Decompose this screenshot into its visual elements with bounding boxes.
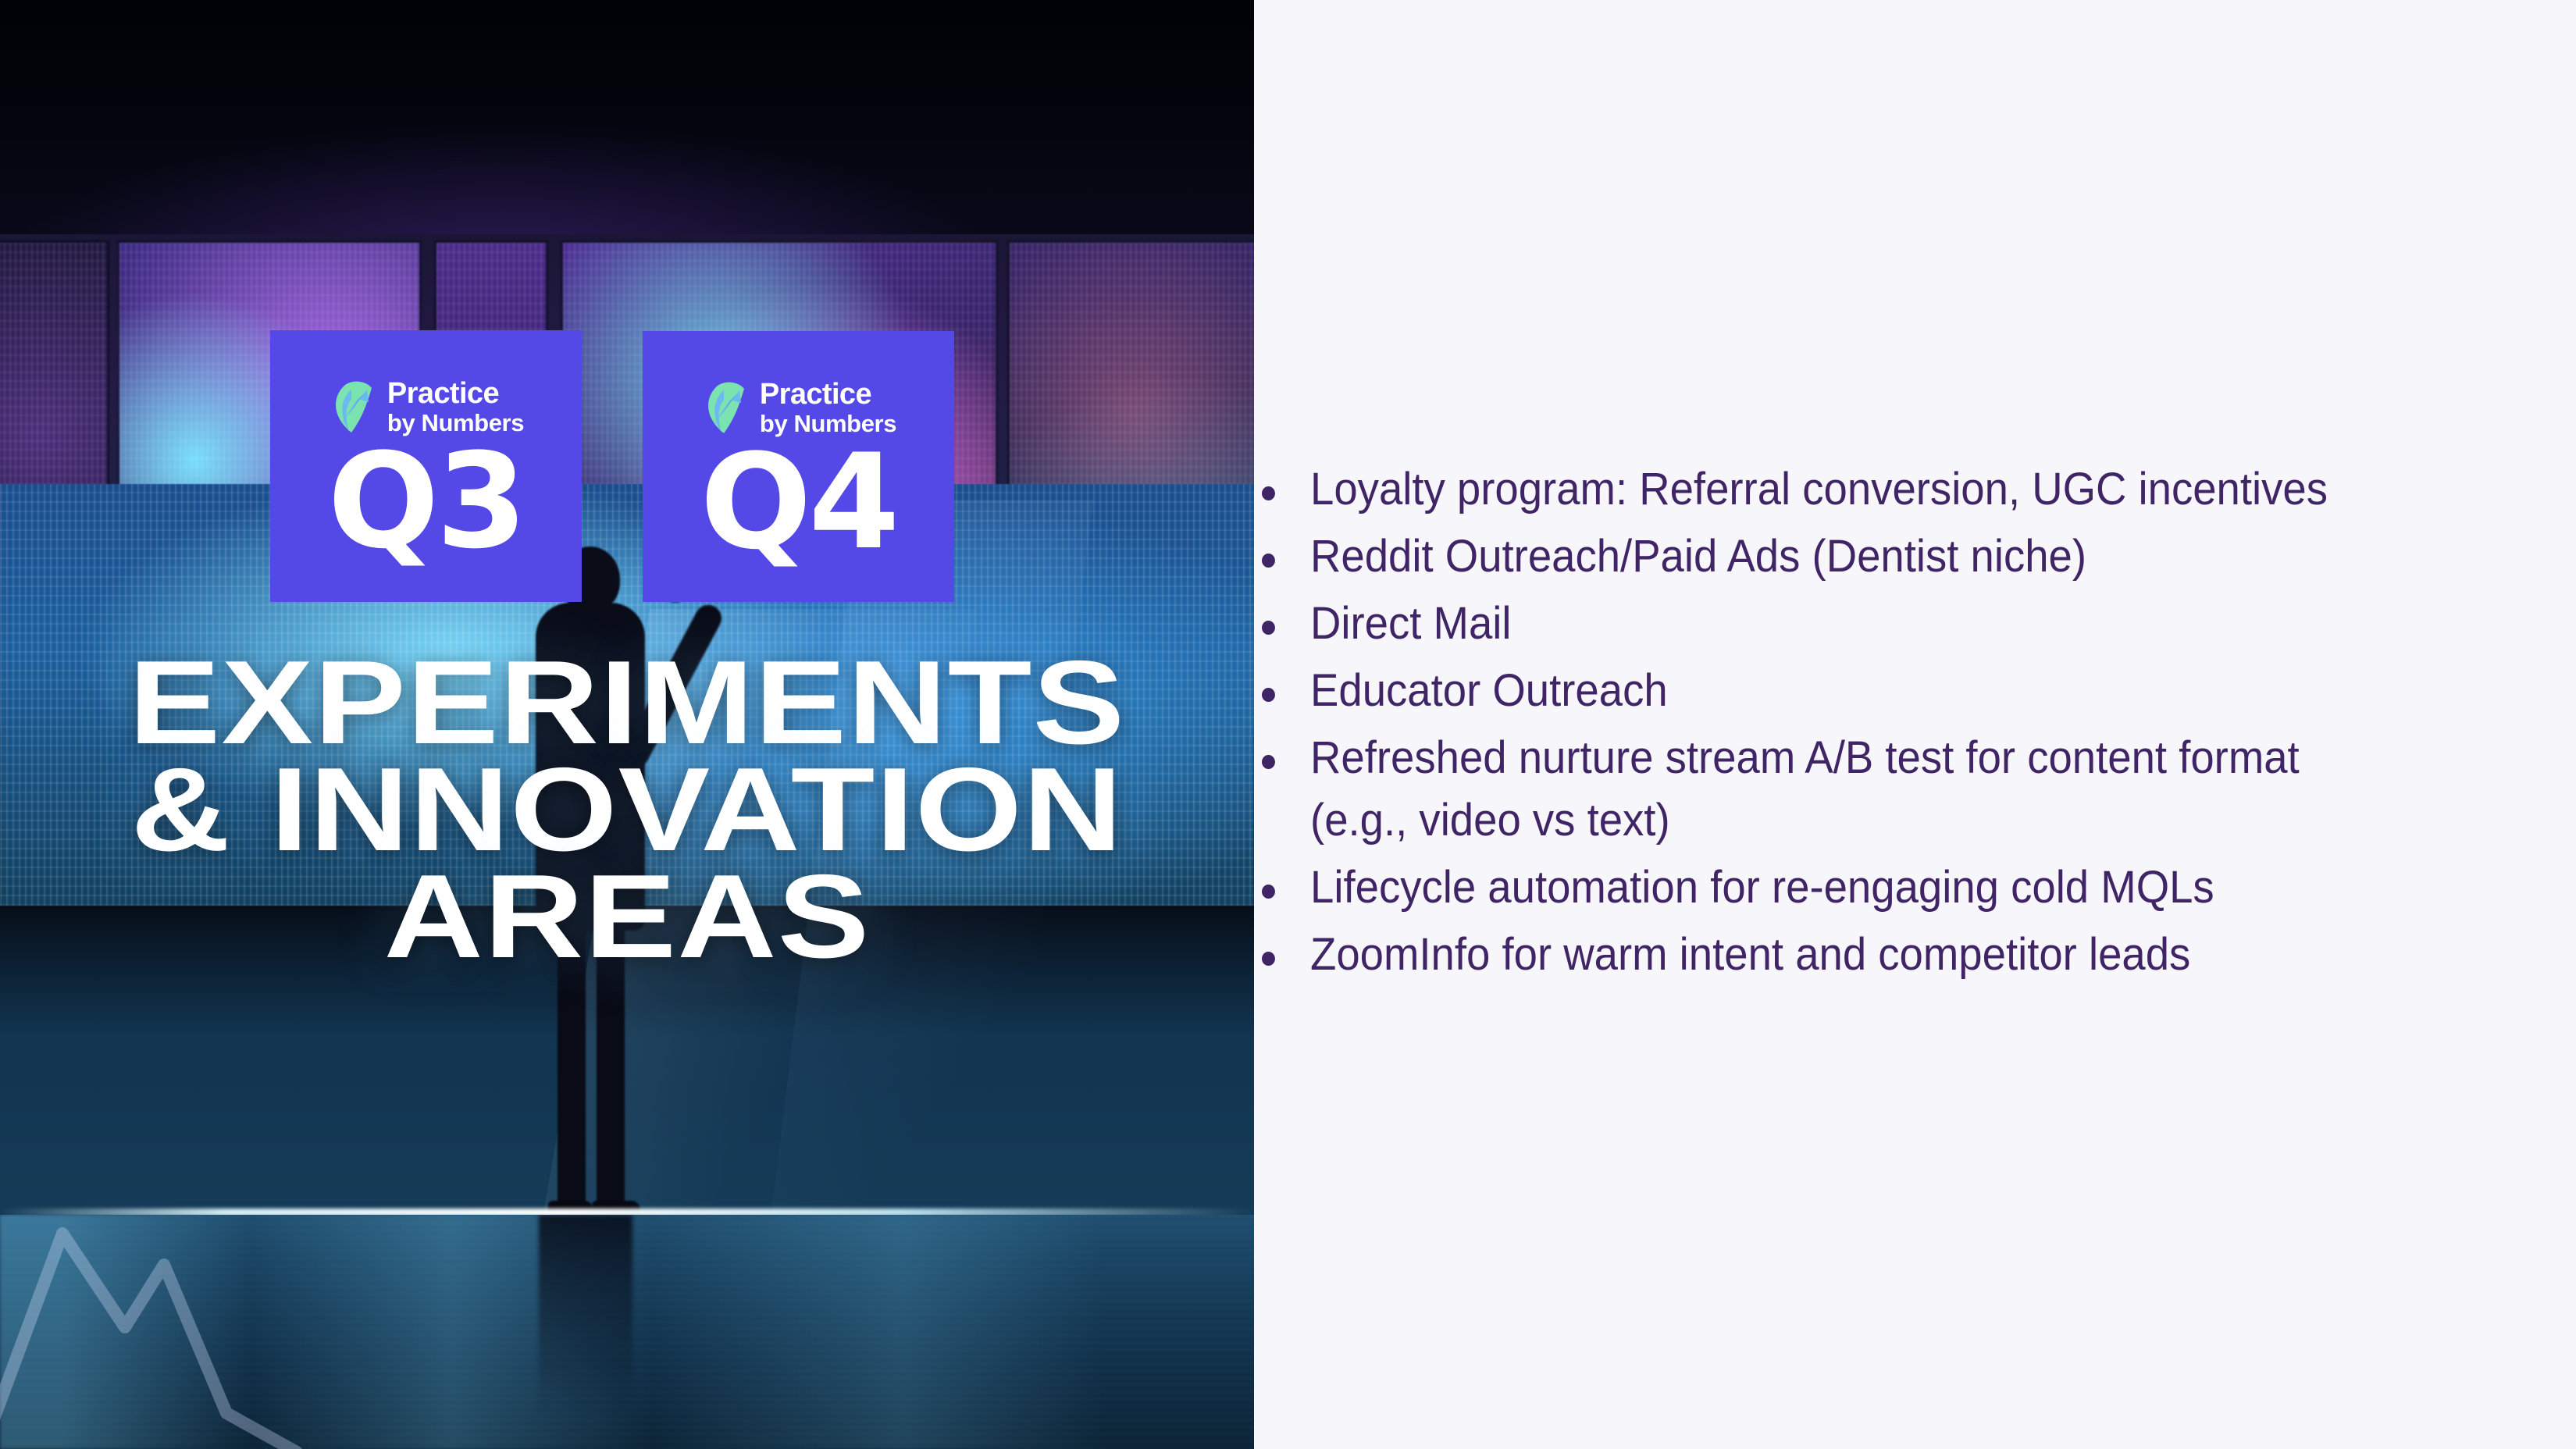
bullet-dot-icon <box>1262 885 1275 899</box>
quarter-card-q4: Practice by Numbers Q4 <box>643 331 954 602</box>
floor-reflection <box>539 1215 632 1449</box>
list-item-label: Lifecycle automation for re-engaging col… <box>1310 856 2380 919</box>
list-item: Reddit Outreach/Paid Ads (Dentist niche) <box>1262 525 2380 588</box>
list-item-label: ZoomInfo for warm intent and competitor … <box>1310 924 2380 986</box>
slide-root: Practice by Numbers Q3 Practice by Numbe… <box>0 0 2576 1449</box>
list-item: Lifecycle automation for re-engaging col… <box>1262 856 2380 919</box>
brand-line-1: Practice <box>387 379 524 408</box>
list-item-label: Educator Outreach <box>1310 660 2380 722</box>
reflective-floor <box>0 1215 1254 1449</box>
brand-line-1: Practice <box>760 379 896 409</box>
right-content-panel: Loyalty program: Referral conversion, UG… <box>1254 0 2576 1449</box>
list-item-label: Direct Mail <box>1310 593 2380 655</box>
bullet-dot-icon <box>1262 688 1275 702</box>
bullet-list: Loyalty program: Referral conversion, UG… <box>1262 458 2576 991</box>
list-item: Direct Mail <box>1262 593 2380 655</box>
list-item: Refreshed nurture stream A/B test for co… <box>1262 727 2380 852</box>
quarter-card-q3: Practice by Numbers Q3 <box>270 330 582 602</box>
slide-headline: Experiments & Innovation Areas <box>0 650 1254 970</box>
quarter-label: Q4 <box>700 442 897 563</box>
bullet-dot-icon <box>1262 952 1275 966</box>
list-item-label: Refreshed nurture stream A/B test for co… <box>1310 727 2380 852</box>
list-item: ZoomInfo for warm intent and competitor … <box>1262 924 2380 986</box>
bullet-dot-icon <box>1262 621 1275 635</box>
list-item-label: Reddit Outreach/Paid Ads (Dentist niche) <box>1310 525 2380 588</box>
list-item-label: Loyalty program: Referral conversion, UG… <box>1310 458 2380 521</box>
bullet-dot-icon <box>1262 755 1275 769</box>
bullet-dot-icon <box>1262 486 1275 500</box>
list-item: Loyalty program: Referral conversion, UG… <box>1262 458 2380 521</box>
bullet-dot-icon <box>1262 554 1275 568</box>
quarter-label: Q3 <box>328 441 525 562</box>
left-visual-panel: Practice by Numbers Q3 Practice by Numbe… <box>0 0 1254 1449</box>
list-item: Educator Outreach <box>1262 660 2380 722</box>
background-sky <box>0 0 1254 265</box>
